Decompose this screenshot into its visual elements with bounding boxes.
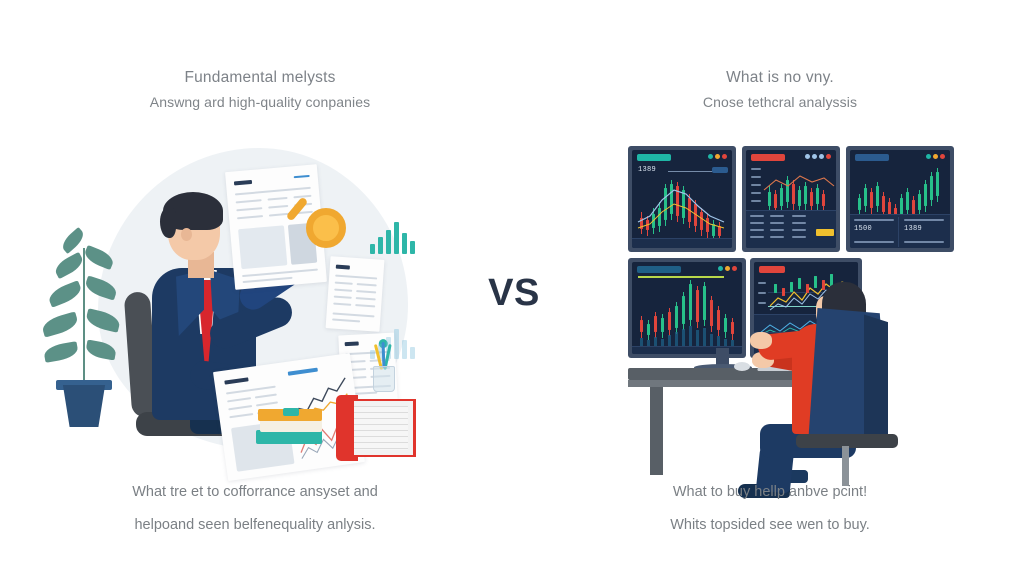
- screen-status-dots: [805, 154, 831, 159]
- plant-leaf: [46, 280, 84, 308]
- versus-divider: VS: [462, 272, 566, 315]
- screen-level-line: [638, 276, 724, 278]
- right-caption-line1: What to buy hellp anbve pcint!: [545, 476, 995, 509]
- screen-top-left: 1389: [632, 150, 732, 248]
- screen-top-center: [746, 150, 836, 248]
- plant-stem: [83, 248, 85, 386]
- left-panel-heading: Fundamental melysts Answng ard high-qual…: [40, 66, 480, 114]
- comparison-infographic: Fundamental melysts Answng ard high-qual…: [0, 0, 1024, 585]
- magnifier-lens: [306, 208, 346, 248]
- screen-bottom-left: [632, 262, 742, 354]
- left-caption-line2: helpoand seen belfenequality anlysis.: [30, 509, 480, 542]
- plant-leaf: [52, 252, 86, 279]
- desk-leg: [650, 387, 663, 475]
- cup-glass: [373, 366, 395, 392]
- technical-analysis-illustration: 1389: [610, 140, 1000, 460]
- screen-trend-line: [762, 168, 836, 216]
- plant-pot: [60, 385, 108, 427]
- screen-symbol-tag: [855, 154, 889, 161]
- screen-ma-line: [632, 150, 732, 248]
- screen-quote-1: 1500: [854, 225, 872, 233]
- screen-symbol-tag: [751, 154, 785, 161]
- screen-status-dots: [718, 266, 737, 271]
- fundamental-analysis-illustration: [40, 140, 460, 460]
- book-teal: [256, 430, 322, 444]
- monitor-top-center: [742, 146, 840, 252]
- screen-highlight-cell: [816, 229, 834, 236]
- bar-chart-icon: [370, 220, 414, 254]
- plant-leaf: [40, 311, 79, 337]
- screen-symbol-tag: [759, 266, 785, 273]
- right-heading-title: What is no vny.: [560, 66, 1000, 90]
- monitor-top-left: 1389: [628, 146, 736, 252]
- red-book-pages: [354, 399, 416, 457]
- screen-top-right: 1500 1389: [850, 150, 950, 248]
- screen-status-dots: [926, 154, 945, 159]
- figure-ear: [181, 228, 192, 241]
- left-caption-line1: What tre et to cofforrance ansyset and: [30, 476, 480, 509]
- mouse-icon: [734, 362, 750, 371]
- book-mark: [283, 408, 299, 416]
- trader-hand-raised: [750, 332, 772, 349]
- left-panel-caption: What tre et to cofforrance ansyset and h…: [30, 476, 480, 542]
- monitor-bottom-left: [628, 258, 746, 358]
- screen-quote-panel: 1500 1389: [850, 214, 950, 248]
- right-caption-line2: Whits topsided see wen to buy.: [545, 509, 995, 542]
- figure-hair-side: [160, 208, 176, 238]
- screen-quote-2: 1389: [904, 225, 922, 233]
- right-panel-heading: What is no vny. Cnose tethcral analyssis: [560, 66, 1000, 114]
- screen-symbol-tag: [637, 266, 681, 273]
- report-paper-small: [326, 256, 385, 332]
- screen-data-table: [746, 210, 836, 248]
- left-heading-title: Fundamental melysts: [40, 66, 480, 90]
- screen-volume-strip: [632, 238, 732, 248]
- trader-chair-side: [864, 312, 888, 438]
- left-heading-subtitle: Answng ard high-quality conpanies: [40, 90, 480, 114]
- monitor-top-right: 1500 1389: [846, 146, 954, 252]
- right-panel-caption: What to buy hellp anbve pcint! Whits top…: [545, 476, 995, 542]
- right-heading-subtitle: Cnose tethcral analyssis: [560, 90, 1000, 114]
- plant-leaf: [43, 341, 79, 363]
